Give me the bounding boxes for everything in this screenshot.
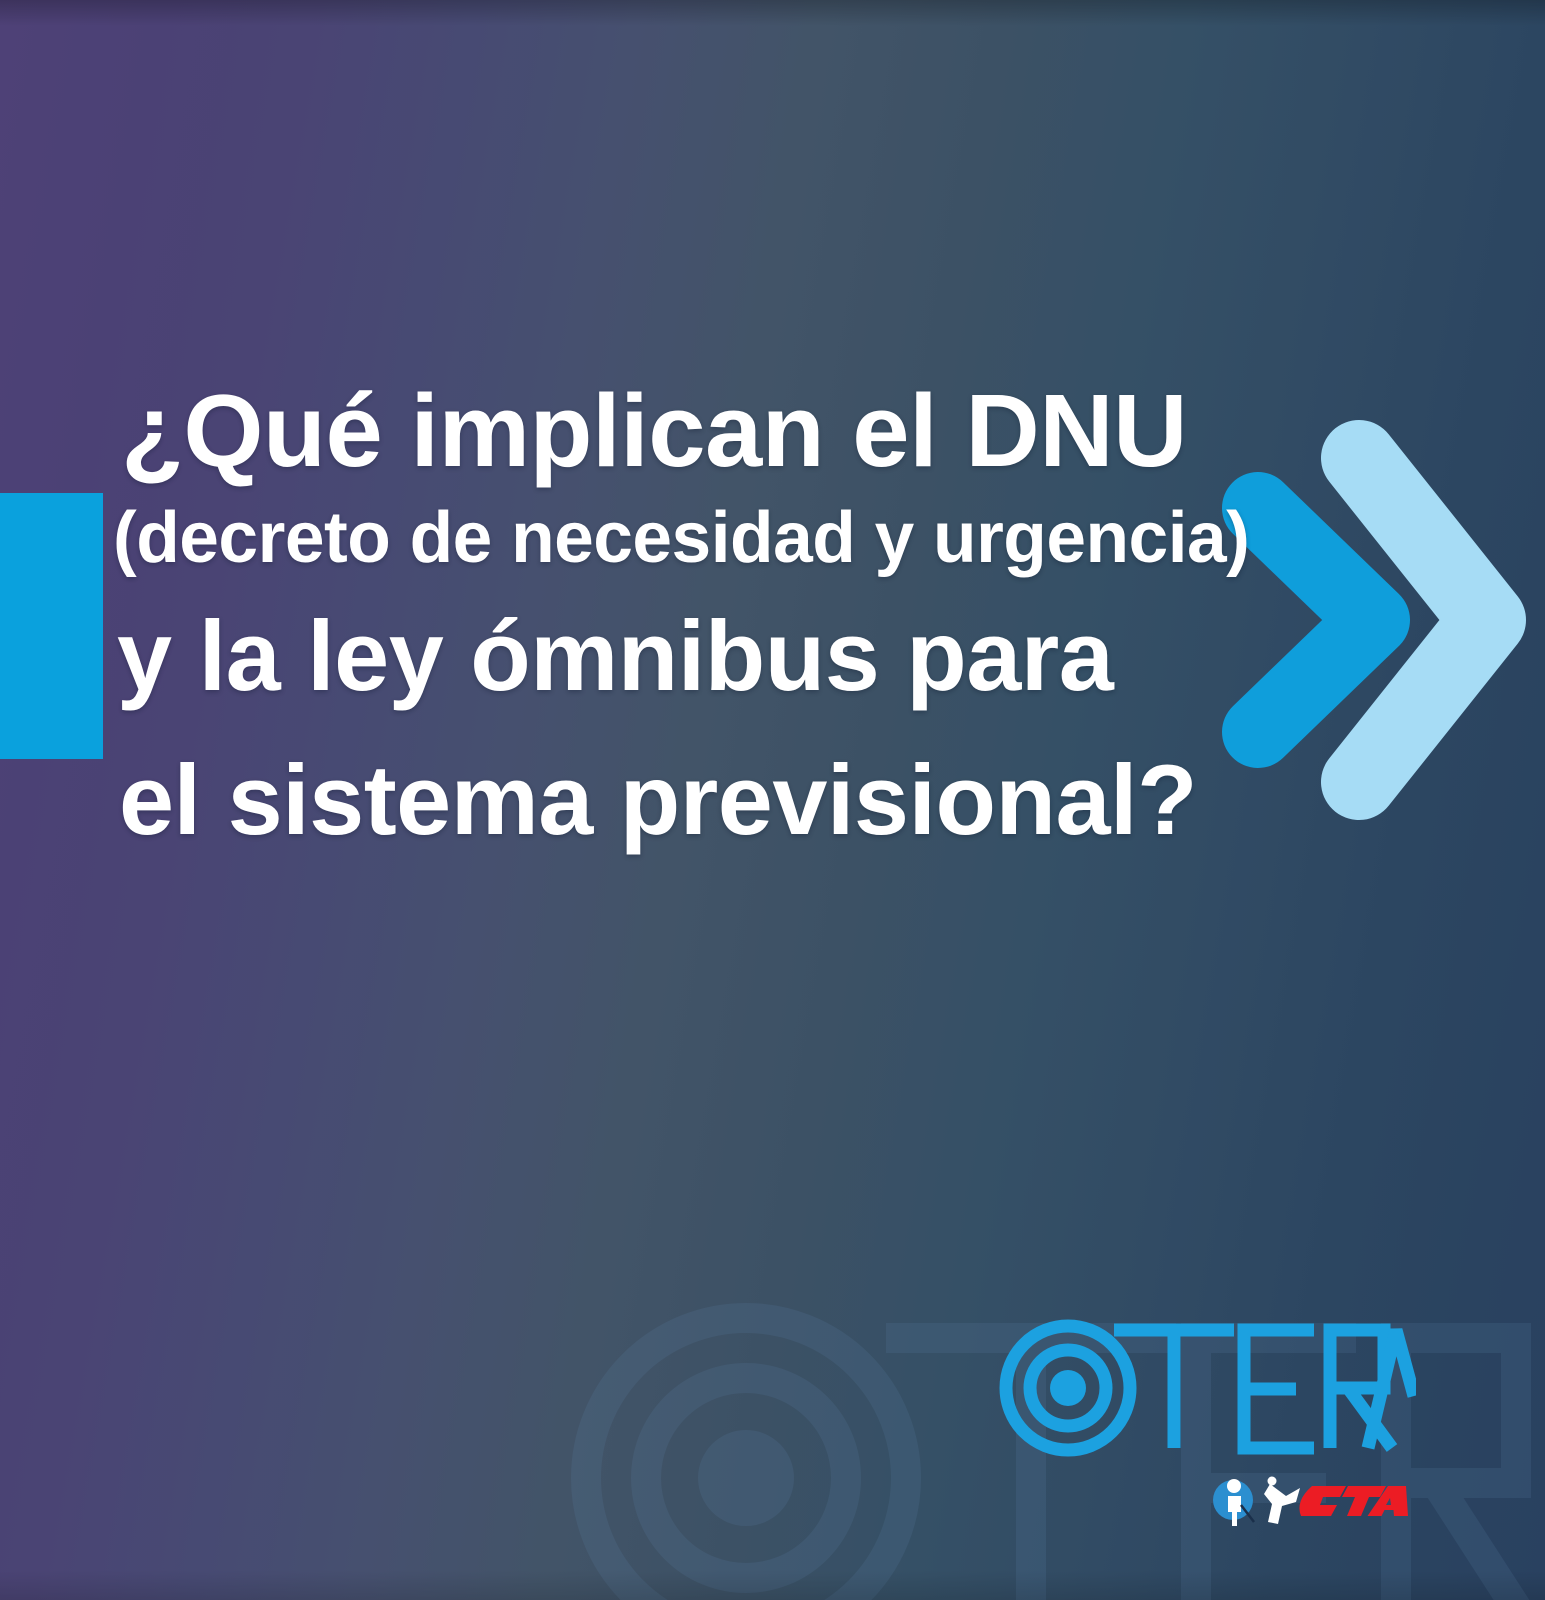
runner-figure-icon bbox=[1264, 1477, 1300, 1525]
poster-canvas: ¿Qué implican el DNU (decreto de necesid… bbox=[0, 0, 1545, 1600]
ctera-logo-text: CTERA bbox=[996, 1296, 1051, 1300]
person-figure-icon bbox=[1213, 1479, 1254, 1526]
cta-logo-text: CTA bbox=[1208, 1472, 1239, 1476]
cta-logo: CTA bbox=[1208, 1472, 1408, 1538]
accent-block bbox=[0, 493, 103, 759]
headline-line-4: el sistema previsional? bbox=[119, 726, 1433, 874]
page-title: ¿Qué implican el DNU (decreto de necesid… bbox=[113, 372, 1433, 874]
ctera-logo: CTERA bbox=[996, 1296, 1416, 1476]
headline-line-2: (decreto de necesidad y urgencia) bbox=[113, 490, 1420, 586]
headline-line-1: ¿Qué implican el DNU bbox=[121, 372, 1433, 490]
headline-line-3: y la ley ómnibus para bbox=[117, 586, 1433, 726]
